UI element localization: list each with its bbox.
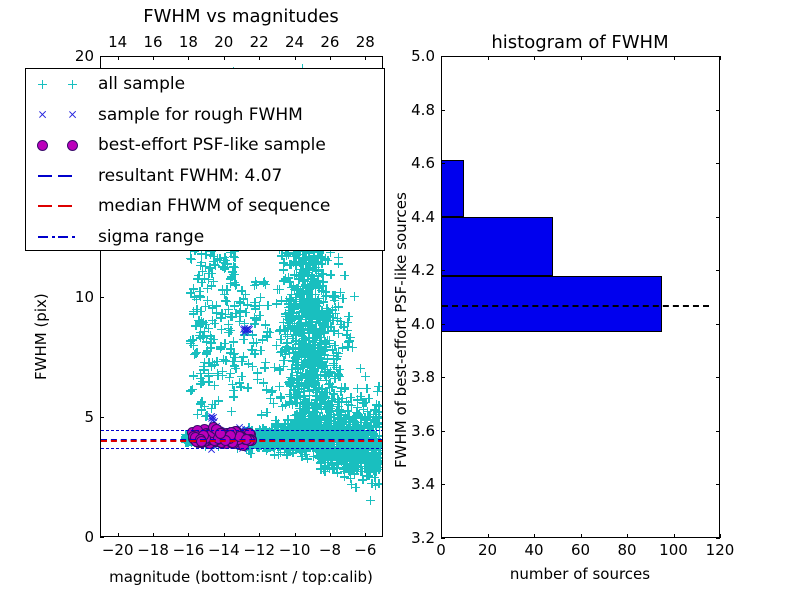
scatter-point-all-sample xyxy=(262,331,271,340)
right-ytick-mark xyxy=(441,484,445,485)
scatter-point-all-sample xyxy=(366,496,375,505)
scatter-point-all-sample xyxy=(351,457,360,466)
scatter-point-all-sample xyxy=(345,467,354,476)
left-top-xtick-mark xyxy=(365,56,366,60)
right-xtick-label: 20 xyxy=(478,541,497,559)
scatter-point-all-sample xyxy=(263,301,272,310)
scatter-point-all-sample xyxy=(279,318,288,327)
right-top-tick-mark xyxy=(488,56,489,60)
scatter-point-all-sample xyxy=(372,414,381,423)
scatter-point-all-sample xyxy=(290,411,299,420)
scatter-point-all-sample xyxy=(256,346,265,355)
scatter-point-all-sample xyxy=(198,267,207,276)
left-top-xtick-mark xyxy=(259,56,260,60)
left-ytick-label: 0 xyxy=(84,528,94,546)
right-ytick-mark-right xyxy=(716,538,720,539)
scatter-point-all-sample xyxy=(334,372,343,381)
left-ytick-mark xyxy=(100,297,104,298)
scatter-point-all-sample xyxy=(338,294,347,303)
plot-legend[interactable]: all samplesample for rough FWHMbest-effo… xyxy=(25,68,385,251)
right-ytick-label: 3.6 xyxy=(411,422,435,440)
legend-label: all sample xyxy=(98,74,185,94)
scatter-point-all-sample xyxy=(186,254,195,263)
scatter-point-all-sample xyxy=(334,329,343,338)
right-plot-title: histogram of FWHM xyxy=(491,32,668,53)
scatter-point-all-sample xyxy=(217,309,226,318)
scatter-point-all-sample xyxy=(250,313,259,322)
left-xtick-mark xyxy=(224,533,225,537)
left-xtick-label: −14 xyxy=(208,541,240,559)
legend-dashed-line xyxy=(58,175,72,177)
scatter-point-all-sample xyxy=(329,293,338,302)
left-top-xtick-label: 14 xyxy=(108,33,127,51)
scatter-point-all-sample xyxy=(289,302,298,311)
right-xtick-mark xyxy=(720,534,721,538)
scatter-point-all-sample xyxy=(189,307,198,316)
left-xtick-label: −6 xyxy=(354,541,376,559)
right-xtick-mark xyxy=(488,534,489,538)
right-top-tick-mark xyxy=(720,56,721,60)
legend-x-marker xyxy=(68,110,77,119)
scatter-point-all-sample xyxy=(281,400,290,409)
scatter-point-all-sample xyxy=(217,325,226,334)
left-xtick-label: −8 xyxy=(319,541,341,559)
scatter-point-all-sample xyxy=(297,381,306,390)
left-xtick-label: −12 xyxy=(243,541,275,559)
legend-dashed-line xyxy=(38,175,52,177)
scatter-point-all-sample xyxy=(257,410,266,419)
right-ytick-label: 4.8 xyxy=(411,101,435,119)
scatter-point-all-sample xyxy=(206,334,215,343)
left-xtick-mark xyxy=(153,533,154,537)
scatter-point-all-sample xyxy=(337,408,346,417)
scatter-point-all-sample xyxy=(344,412,353,421)
left-xtick-mark xyxy=(118,533,119,537)
figure-canvas: FWHM vs magnitudes FWHM (pix) magnitude … xyxy=(0,0,800,600)
sigma-range-upper-line xyxy=(101,430,382,431)
scatter-point-all-sample xyxy=(227,407,236,416)
scatter-point-all-sample xyxy=(320,318,329,327)
left-top-xtick-mark xyxy=(295,56,296,60)
scatter-point-all-sample xyxy=(371,481,380,490)
scatter-point-all-sample xyxy=(204,369,213,378)
scatter-point-all-sample xyxy=(197,258,206,267)
legend-entry[interactable]: sample for rough FWHM xyxy=(26,100,384,131)
scatter-point-all-sample xyxy=(226,326,235,335)
left-top-xtick-label: 16 xyxy=(144,33,163,51)
legend-plus-marker xyxy=(68,80,77,89)
left-ytick-label: 5 xyxy=(84,408,94,426)
scatter-point-all-sample xyxy=(350,292,359,301)
scatter-point-all-sample xyxy=(321,402,330,411)
scatter-point-all-sample xyxy=(212,357,221,366)
right-ytick-mark xyxy=(441,538,445,539)
scatter-point-all-sample xyxy=(237,286,246,295)
right-ytick-mark-right xyxy=(716,270,720,271)
scatter-point-all-sample xyxy=(332,348,341,357)
right-plot-ylabel: FWHM of best-effort PSF-like sources xyxy=(392,192,410,468)
left-ytick-mark xyxy=(100,56,104,57)
legend-dashed-line xyxy=(38,205,52,207)
right-ytick-mark xyxy=(441,270,445,271)
right-ytick-mark xyxy=(441,217,445,218)
right-xtick-mark xyxy=(674,534,675,538)
scatter-point-all-sample xyxy=(261,358,270,367)
scatter-point-all-sample xyxy=(353,384,362,393)
scatter-point-all-sample xyxy=(305,305,314,314)
scatter-point-all-sample xyxy=(210,260,219,269)
scatter-point-all-sample xyxy=(361,416,370,425)
scatter-point-all-sample xyxy=(316,254,325,263)
left-top-xtick-mark xyxy=(224,56,225,60)
right-ytick-label: 4.6 xyxy=(411,154,435,172)
left-ytick-mark xyxy=(100,417,104,418)
scatter-point-all-sample xyxy=(255,301,264,310)
resultant-fwhm-dashed-line xyxy=(442,305,709,307)
scatter-point-all-sample xyxy=(361,372,370,381)
right-ytick-label: 3.2 xyxy=(411,529,435,547)
left-top-xtick-label: 22 xyxy=(250,33,269,51)
scatter-point-all-sample xyxy=(320,467,329,476)
scatter-point-all-sample xyxy=(307,374,316,383)
scatter-point-all-sample xyxy=(335,449,344,458)
left-xtick-label: −18 xyxy=(137,541,169,559)
scatter-point-all-sample xyxy=(324,450,333,459)
scatter-point-all-sample xyxy=(229,337,238,346)
scatter-point-all-sample xyxy=(197,278,206,287)
left-top-xtick-mark xyxy=(153,56,154,60)
legend-dashed-line xyxy=(58,205,72,207)
scatter-point-all-sample xyxy=(305,351,314,360)
left-ytick-label: 20 xyxy=(75,47,94,65)
scatter-point-all-sample xyxy=(290,319,299,328)
right-xtick-mark xyxy=(534,534,535,538)
sigma-range-lower-line xyxy=(101,448,382,449)
right-ytick-mark xyxy=(441,377,445,378)
right-xtick-label: 120 xyxy=(706,541,735,559)
legend-label: median FHWM of sequence xyxy=(98,196,330,216)
scatter-point-all-sample xyxy=(334,259,343,268)
scatter-point-all-sample xyxy=(353,395,362,404)
right-plot-data-area xyxy=(442,57,719,537)
left-xtick-mark xyxy=(330,533,331,537)
histogram-bar xyxy=(442,276,662,332)
scatter-point-all-sample xyxy=(201,302,210,311)
scatter-point-all-sample xyxy=(317,387,326,396)
histogram-bar xyxy=(442,160,464,216)
legend-entry[interactable]: resultant FWHM: 4.07 xyxy=(26,161,384,192)
scatter-point-all-sample xyxy=(268,386,277,395)
scatter-point-all-sample xyxy=(321,337,330,346)
legend-label: best-effort PSF-like sample xyxy=(98,135,326,155)
right-xtick-label: 60 xyxy=(571,541,590,559)
scatter-point-all-sample xyxy=(300,256,309,265)
right-plot-xlabel: number of sources xyxy=(510,565,650,583)
scatter-point-all-sample xyxy=(371,453,380,462)
left-plot-title: FWHM vs magnitudes xyxy=(143,6,338,27)
right-ytick-label: 4.4 xyxy=(411,208,435,226)
left-top-xtick-mark xyxy=(188,56,189,60)
median-fwhm-line xyxy=(101,440,382,442)
scatter-point-all-sample xyxy=(333,417,342,426)
right-xtick-label: 100 xyxy=(659,541,688,559)
legend-dashdot-line xyxy=(52,236,55,238)
scatter-point-all-sample xyxy=(189,284,198,293)
right-ytick-mark-right xyxy=(716,324,720,325)
right-ytick-mark-right xyxy=(716,163,720,164)
legend-entry[interactable]: median FHWM of sequence xyxy=(26,191,384,222)
left-plot-ylabel: FWHM (pix) xyxy=(32,293,50,380)
scatter-point-all-sample xyxy=(300,421,309,430)
right-top-tick-mark xyxy=(581,56,582,60)
left-xtick-mark xyxy=(188,533,189,537)
right-ytick-label: 5.0 xyxy=(411,47,435,65)
scatter-point-all-sample xyxy=(195,331,204,340)
scatter-point-all-sample xyxy=(373,387,382,396)
scatter-point-all-sample xyxy=(207,269,216,278)
scatter-point-all-sample xyxy=(284,345,293,354)
histogram-bar xyxy=(442,217,553,276)
scatter-point-all-sample xyxy=(348,343,357,352)
right-ytick-mark xyxy=(441,163,445,164)
right-xtick-label: 0 xyxy=(436,541,446,559)
right-ytick-mark-right xyxy=(716,217,720,218)
scatter-point-all-sample xyxy=(192,348,201,357)
scatter-point-all-sample xyxy=(206,343,215,352)
scatter-point-all-sample xyxy=(220,339,229,348)
right-ytick-mark-right xyxy=(716,377,720,378)
scatter-point-all-sample xyxy=(302,401,311,410)
right-top-tick-mark xyxy=(627,56,628,60)
scatter-point-all-sample xyxy=(236,298,245,307)
right-ytick-mark-right xyxy=(716,484,720,485)
scatter-point-all-sample xyxy=(318,277,327,286)
right-xtick-label: 40 xyxy=(524,541,543,559)
scatter-point-all-sample xyxy=(197,319,206,328)
scatter-point-all-sample xyxy=(340,271,349,280)
scatter-point-all-sample xyxy=(243,383,252,392)
left-top-xtick-mark xyxy=(118,56,119,60)
scatter-point-all-sample xyxy=(310,418,319,427)
scatter-point-all-sample xyxy=(351,483,360,492)
right-xtick-mark xyxy=(627,534,628,538)
scatter-point-rough-fwhm xyxy=(240,324,249,333)
legend-entry[interactable]: best-effort PSF-like sample xyxy=(26,130,384,161)
legend-dashdot-line xyxy=(72,236,75,238)
scatter-point-all-sample xyxy=(213,371,222,380)
scatter-point-all-sample xyxy=(289,390,298,399)
scatter-point-all-sample xyxy=(229,270,238,279)
legend-circle-marker xyxy=(37,140,48,151)
scatter-point-all-sample xyxy=(235,378,244,387)
scatter-point-all-sample xyxy=(186,386,195,395)
legend-label: sample for rough FWHM xyxy=(98,105,303,125)
legend-dashdot-line xyxy=(38,236,48,238)
scatter-point-all-sample xyxy=(362,384,371,393)
scatter-point-all-sample xyxy=(371,467,380,476)
scatter-point-all-sample xyxy=(321,287,330,296)
scatter-point-all-sample xyxy=(209,277,218,286)
scatter-point-all-sample xyxy=(279,362,288,371)
right-ytick-mark-right xyxy=(716,431,720,432)
legend-label: sigma range xyxy=(98,227,204,247)
scatter-point-all-sample xyxy=(247,345,256,354)
right-top-tick-mark xyxy=(441,56,442,60)
left-ytick-mark xyxy=(100,537,104,538)
right-ytick-label: 4.2 xyxy=(411,261,435,279)
scatter-point-all-sample xyxy=(218,285,227,294)
right-ytick-mark xyxy=(441,110,445,111)
scatter-point-all-sample xyxy=(285,277,294,286)
left-top-xtick-label: 26 xyxy=(320,33,339,51)
legend-label: resultant FWHM: 4.07 xyxy=(98,166,282,186)
right-ytick-mark xyxy=(441,431,445,432)
scatter-point-all-sample xyxy=(322,376,331,385)
legend-x-marker xyxy=(38,110,47,119)
left-xtick-label: −16 xyxy=(173,541,205,559)
scatter-point-all-sample xyxy=(271,419,280,428)
scatter-point-all-sample xyxy=(186,339,195,348)
scatter-point-all-sample xyxy=(276,335,285,344)
legend-dashdot-line xyxy=(58,236,68,238)
right-xtick-label: 80 xyxy=(617,541,636,559)
left-plot-xlabel: magnitude (bottom:isnt / top:calib) xyxy=(109,568,373,586)
scatter-point-all-sample xyxy=(221,356,230,365)
left-xtick-mark xyxy=(259,533,260,537)
legend-plus-marker xyxy=(38,80,47,89)
left-top-xtick-label: 24 xyxy=(285,33,304,51)
scatter-point-all-sample xyxy=(303,281,312,290)
legend-entry[interactable]: sigma range xyxy=(26,222,384,253)
right-ytick-label: 3.8 xyxy=(411,368,435,386)
scatter-point-all-sample xyxy=(196,369,205,378)
scatter-point-all-sample xyxy=(342,330,351,339)
scatter-point-all-sample xyxy=(313,364,322,373)
scatter-point-all-sample xyxy=(291,360,300,369)
left-xtick-label: −20 xyxy=(102,541,134,559)
scatter-point-all-sample xyxy=(299,329,308,338)
left-xtick-mark xyxy=(365,533,366,537)
scatter-point-all-sample xyxy=(336,387,345,396)
scatter-point-all-sample xyxy=(288,334,297,343)
legend-circle-marker xyxy=(67,140,78,151)
right-top-tick-mark xyxy=(674,56,675,60)
left-top-xtick-label: 20 xyxy=(214,33,233,51)
scatter-point-all-sample xyxy=(239,352,248,361)
left-top-xtick-label: 28 xyxy=(356,33,375,51)
right-top-tick-mark xyxy=(534,56,535,60)
scatter-point-all-sample xyxy=(208,400,217,409)
scatter-point-all-sample xyxy=(275,285,284,294)
scatter-point-all-sample xyxy=(253,375,262,384)
scatter-point-all-sample xyxy=(250,281,259,290)
scatter-point-all-sample xyxy=(315,347,324,356)
left-xtick-mark xyxy=(295,533,296,537)
right-ytick-label: 4.0 xyxy=(411,315,435,333)
right-ytick-label: 3.4 xyxy=(411,475,435,493)
left-top-xtick-mark xyxy=(330,56,331,60)
scatter-point-all-sample xyxy=(225,373,234,382)
right-xtick-mark xyxy=(581,534,582,538)
right-ytick-mark xyxy=(441,324,445,325)
legend-entry[interactable]: all sample xyxy=(26,69,384,100)
right-ytick-mark-right xyxy=(716,110,720,111)
scatter-point-all-sample xyxy=(235,312,244,321)
scatter-point-all-sample xyxy=(210,381,219,390)
left-ytick-label: 10 xyxy=(75,288,94,306)
scatter-point-all-sample xyxy=(269,399,278,408)
left-xtick-label: −10 xyxy=(279,541,311,559)
scatter-point-all-sample xyxy=(280,420,289,429)
left-top-xtick-label: 18 xyxy=(179,33,198,51)
